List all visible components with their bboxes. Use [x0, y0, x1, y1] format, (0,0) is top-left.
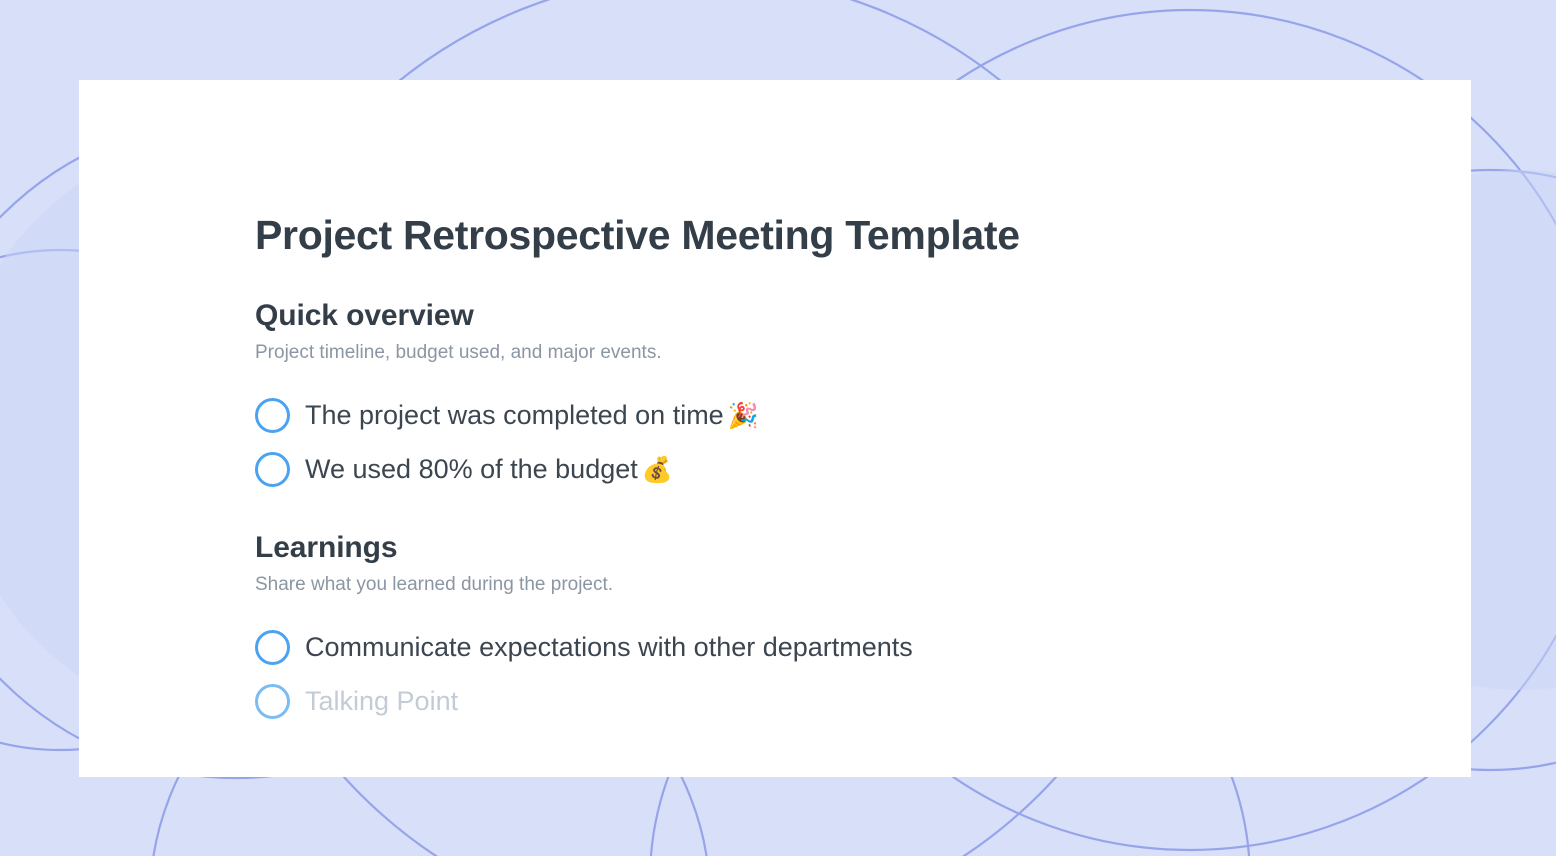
section-heading: Quick overview [255, 298, 1431, 334]
list-item-label: Communicate expectations with other depa… [305, 631, 913, 665]
section-quick-overview: Quick overview Project timeline, budget … [255, 298, 1431, 497]
list-item-text: The project was completed on time [305, 400, 724, 430]
talking-point-list: The project was completed on time🎉 We us… [255, 389, 1431, 497]
list-item-label: The project was completed on time🎉 [305, 399, 759, 433]
section-description: Project timeline, budget used, and major… [255, 341, 1431, 366]
section-learnings: Learnings Share what you learned during … [255, 530, 1431, 729]
list-item-placeholder-label[interactable]: Talking Point [305, 685, 458, 719]
list-item[interactable]: The project was completed on time🎉 [255, 389, 1431, 443]
list-item-placeholder[interactable]: Talking Point [255, 675, 1431, 729]
section-heading: Learnings [255, 530, 1431, 566]
document-card: Project Retrospective Meeting Template Q… [79, 80, 1471, 777]
document-body: Project Retrospective Meeting Template Q… [255, 212, 1431, 762]
list-item-label: We used 80% of the budget💰 [305, 453, 673, 487]
checkbox-circle-icon[interactable] [255, 452, 290, 487]
money-bag-emoji: 💰 [642, 456, 673, 484]
checkbox-circle-icon[interactable] [255, 398, 290, 433]
section-description: Share what you learned during the projec… [255, 573, 1431, 598]
talking-point-list: Communicate expectations with other depa… [255, 621, 1431, 729]
party-popper-emoji: 🎉 [728, 402, 759, 430]
list-item[interactable]: Communicate expectations with other depa… [255, 621, 1431, 675]
list-item-text: We used 80% of the budget [305, 454, 638, 484]
page-title: Project Retrospective Meeting Template [255, 212, 1431, 259]
checkbox-circle-icon[interactable] [255, 630, 290, 665]
list-item[interactable]: We used 80% of the budget💰 [255, 443, 1431, 497]
checkbox-circle-icon[interactable] [255, 684, 290, 719]
